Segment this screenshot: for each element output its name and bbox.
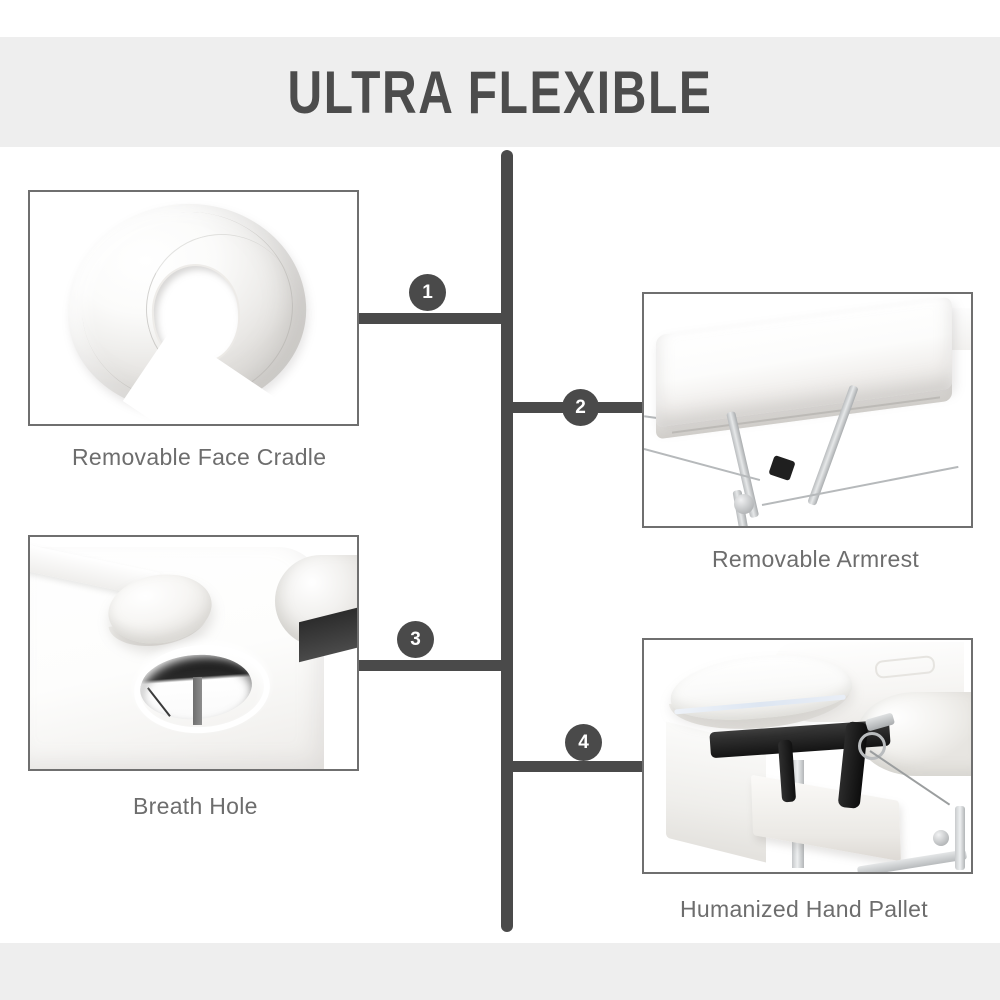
connector-branch-1: [355, 313, 507, 324]
frame-joint: [933, 830, 949, 846]
feature-image-panel-3: [28, 535, 359, 771]
feature-badge-3: 3: [398, 622, 433, 657]
page-title: ULTRA FLEXIBLE: [100, 37, 900, 147]
breath-hole-photo: [30, 537, 357, 769]
feature-caption-2: Removable Armrest: [712, 546, 919, 573]
connector-spine: [501, 150, 513, 932]
hand-pallet-photo: [644, 640, 971, 872]
feature-badge-1: 1: [410, 275, 445, 310]
feature-image-panel-4: [642, 638, 973, 874]
feature-caption-3: Breath Hole: [133, 793, 258, 820]
feature-caption-1: Removable Face Cradle: [72, 444, 326, 471]
leg-pivot-joint: [734, 494, 754, 514]
feature-image-panel-2: [642, 292, 973, 528]
feature-caption-4: Humanized Hand Pallet: [680, 896, 928, 923]
black-clamp: [768, 455, 795, 481]
feature-image-panel-1: [28, 190, 359, 426]
connector-branch-4: [507, 761, 644, 772]
armrest-pad-top: [656, 297, 952, 428]
feature-badge-2: 2: [563, 390, 598, 425]
center-post: [193, 677, 202, 725]
footer-band: [0, 943, 1000, 1000]
armrest-photo: [644, 294, 971, 526]
face-cradle-photo: [30, 192, 357, 424]
frame-leg: [955, 806, 965, 870]
face-cradle-illustration: [68, 200, 318, 416]
hand-pallet-shelf: [751, 775, 901, 862]
infographic-canvas: ULTRA FLEXIBLE 1 2 3 4 Removable Face Cr…: [0, 0, 1000, 1000]
cable-hook: [858, 732, 886, 760]
connector-branch-3: [355, 660, 507, 671]
feature-badge-4: 4: [566, 725, 601, 760]
